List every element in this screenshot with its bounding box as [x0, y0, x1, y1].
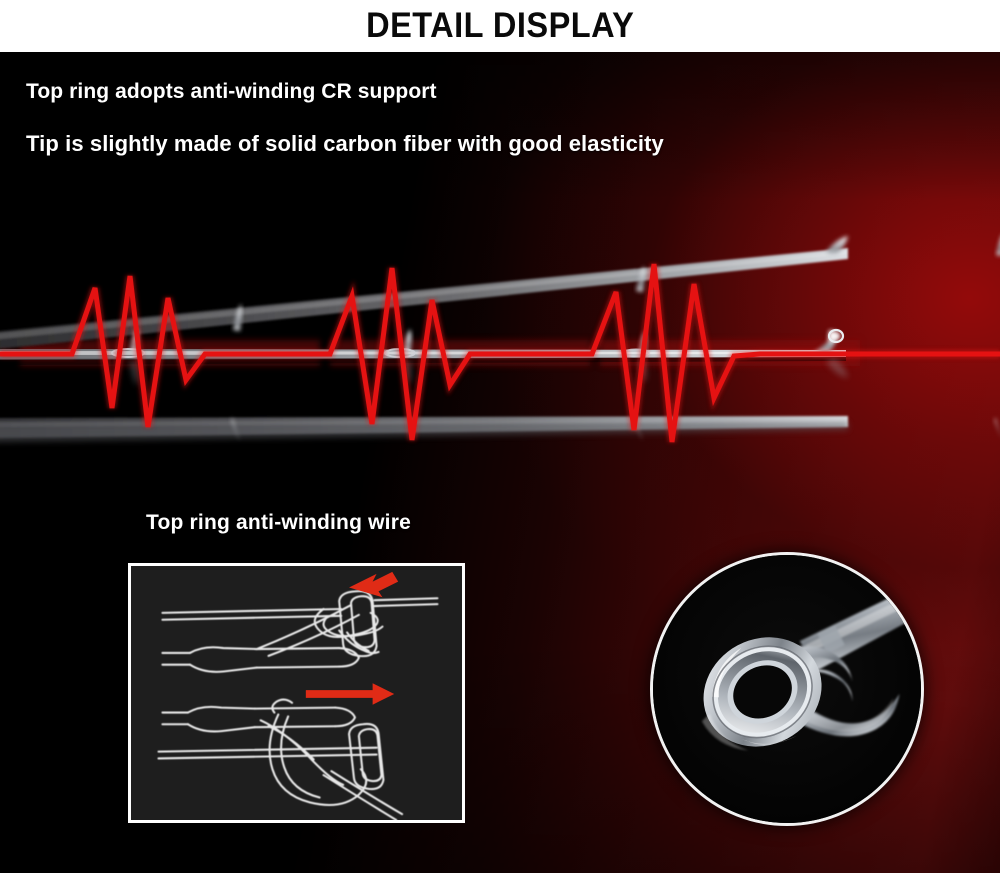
detail-display-page: DETAIL DISPLAY Top ring adopts anti-wind… — [0, 0, 1000, 873]
tip-top-guide-photo — [650, 552, 924, 826]
page-title: DETAIL DISPLAY — [366, 6, 634, 46]
rod-tips-illustration — [0, 180, 1000, 480]
feature-line-2: Tip is slightly made of solid carbon fib… — [26, 131, 664, 157]
anti-winding-diagram — [128, 563, 465, 823]
anti-winding-diagram-svg — [131, 566, 462, 820]
tip-top-guide-photo-svg — [653, 555, 921, 823]
feature-line-1: Top ring adopts anti-winding CR support — [26, 80, 437, 104]
title-band: DETAIL DISPLAY — [0, 0, 1000, 52]
rod-lower-reflection — [0, 422, 848, 442]
anti-winding-wire-label: Top ring anti-winding wire — [146, 511, 411, 535]
